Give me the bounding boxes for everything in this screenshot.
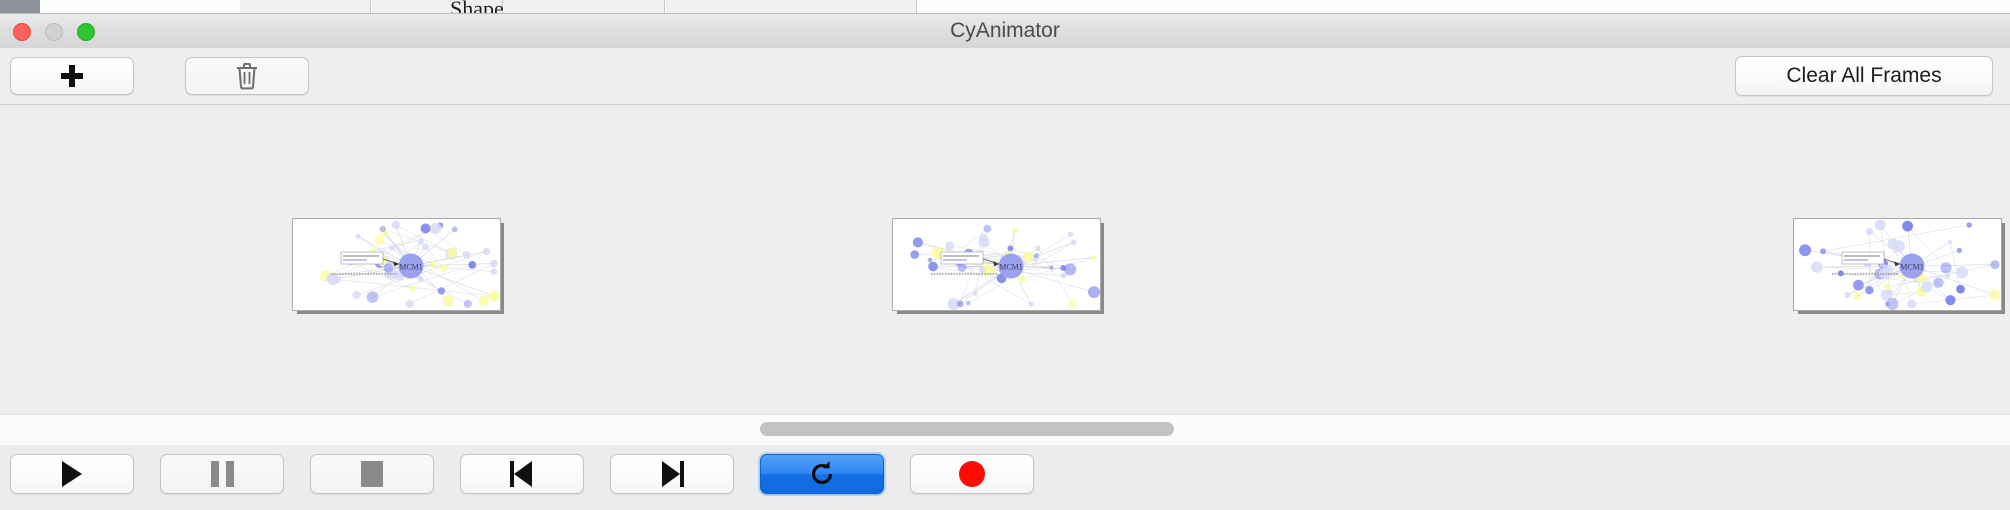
skip-forward-icon <box>660 461 684 487</box>
stop-icon <box>361 461 383 487</box>
loop-icon <box>807 459 837 489</box>
background-tab <box>240 0 371 14</box>
loop-button[interactable] <box>760 454 884 494</box>
title-bar: CyAnimator <box>0 14 2010 49</box>
background-window-strip: Shape <box>0 0 2010 14</box>
play-icon <box>62 461 82 487</box>
last-frame-button[interactable] <box>610 454 734 494</box>
svg-text:MCM1: MCM1 <box>1900 262 1924 271</box>
clear-all-frames-button[interactable]: Clear All Frames <box>1735 56 1993 96</box>
toolbar: Clear All Frames <box>0 48 2010 105</box>
trash-icon <box>235 62 259 90</box>
svg-text:MCM1: MCM1 <box>1000 262 1024 271</box>
timeline-scrollbar-thumb[interactable] <box>760 422 1174 436</box>
delete-frame-button[interactable] <box>185 57 309 95</box>
pause-icon <box>211 461 234 487</box>
plus-icon <box>61 65 83 87</box>
frame-thumbnail[interactable]: MCM1 <box>1793 218 2002 311</box>
frame-thumbnail[interactable]: MCM1 <box>292 218 501 311</box>
add-frame-button[interactable] <box>10 57 134 95</box>
record-button[interactable] <box>910 454 1034 494</box>
background-window-dark-block <box>0 0 40 14</box>
frame-thumbnail[interactable]: MCM1 <box>892 218 1101 311</box>
background-tab <box>504 0 665 14</box>
skip-back-icon <box>510 461 534 487</box>
clear-all-frames-label: Clear All Frames <box>1786 64 1941 88</box>
timeline-track[interactable]: MCM1MCM1MCM1 Seconds 2131415161718 <box>0 105 2010 411</box>
timeline-frame[interactable]: MCM1 <box>292 218 504 314</box>
timeline-frame[interactable]: MCM1 <box>1793 218 2005 314</box>
play-button[interactable] <box>10 454 134 494</box>
background-window-label: Shape <box>450 0 504 14</box>
timeline-frame[interactable]: MCM1 <box>892 218 1104 314</box>
timeline-scrollbar[interactable] <box>0 414 2010 446</box>
record-icon <box>959 461 985 487</box>
timeline-panel[interactable]: MCM1MCM1MCM1 Seconds 2131415161718 <box>0 105 2010 411</box>
playback-control-bar: Animation Speed: <box>0 445 2010 510</box>
cyanimator-window: Shape CyAnimator Clear All Frames <box>0 0 2010 510</box>
stop-button[interactable] <box>310 454 434 494</box>
window-title: CyAnimator <box>0 14 2010 48</box>
svg-text:MCM1: MCM1 <box>399 262 423 271</box>
first-frame-button[interactable] <box>460 454 584 494</box>
background-tab <box>666 0 917 14</box>
pause-button[interactable] <box>160 454 284 494</box>
